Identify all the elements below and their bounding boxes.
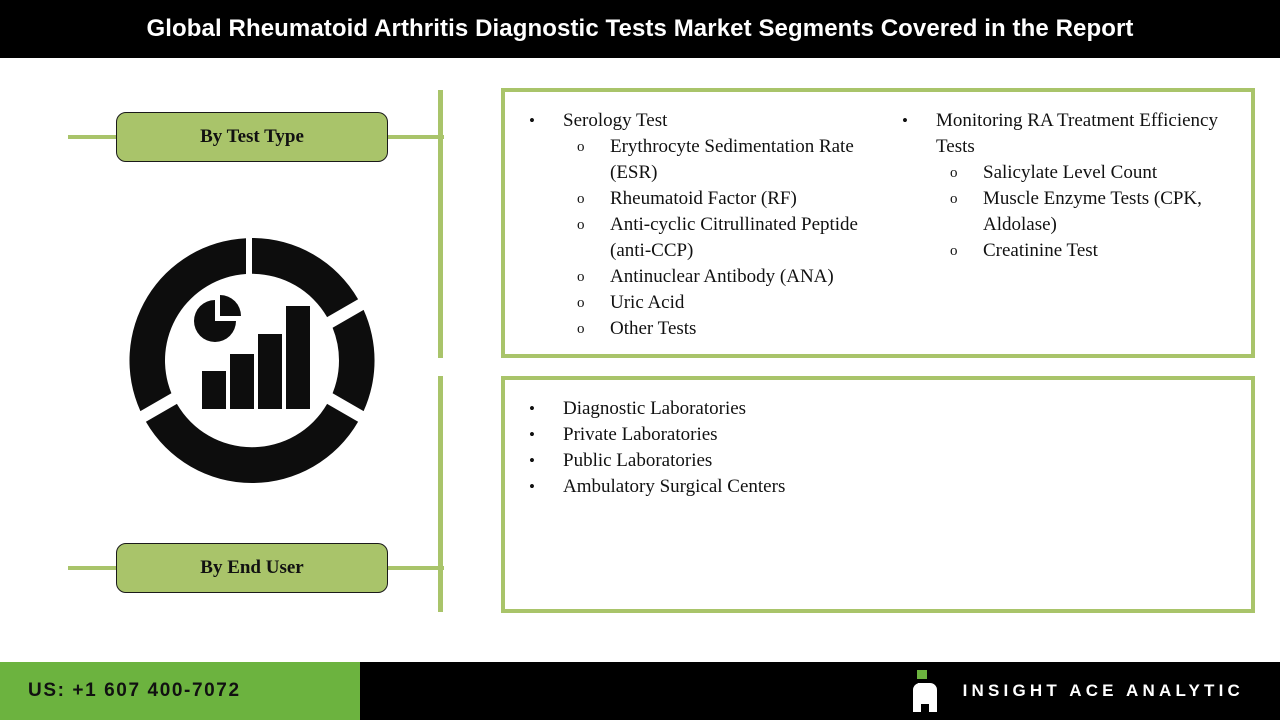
connector-line-right-test-type xyxy=(386,135,444,139)
brand-name-text: INSIGHT ACE ANALYTIC xyxy=(963,681,1244,701)
sub-list-item-label: Rheumatoid Factor (RF) xyxy=(610,188,797,209)
list-item-label: Ambulatory Surgical Centers xyxy=(563,474,1241,500)
sub-list-item: Other Tests xyxy=(563,316,868,342)
brand-logo: INSIGHT ACE ANALYTIC xyxy=(911,670,1244,712)
content-box-end-user: Diagnostic Laboratories Private Laborato… xyxy=(501,376,1255,613)
list-item: Public Laboratories xyxy=(515,448,1241,474)
sub-list-item-label: Salicylate Level Count xyxy=(983,162,1157,183)
sub-list-item-label: Muscle Enzyme Tests (CPK, Aldolase) xyxy=(983,188,1202,235)
sub-list-item: Uric Acid xyxy=(563,290,868,316)
content-column: Monitoring RA Treatment Efficiency Tests… xyxy=(878,92,1251,354)
sub-list-item: Anti-cyclic Citrullinated Peptide (anti-… xyxy=(563,212,868,264)
sub-list-item: Muscle Enzyme Tests (CPK, Aldolase) xyxy=(936,186,1241,238)
sub-list-item-label: Creatinine Test xyxy=(983,240,1098,261)
list-item: Private Laboratories xyxy=(515,422,1241,448)
segment-label-text: By End User xyxy=(200,557,303,579)
connector-line-left-end-user xyxy=(68,566,122,570)
footer-brand-bar: INSIGHT ACE ANALYTIC xyxy=(360,662,1280,720)
content-column: Serology Test Erythrocyte Sedimentation … xyxy=(505,92,878,354)
list-item-label: Private Laboratories xyxy=(563,422,1241,448)
sub-list-item: Creatinine Test xyxy=(936,238,1241,264)
list-item: Serology Test Erythrocyte Sedimentation … xyxy=(515,108,868,342)
list-item-label: Monitoring RA Treatment Efficiency Tests xyxy=(936,108,1241,160)
insightace-logo-icon xyxy=(911,670,941,712)
sub-list-item: Rheumatoid Factor (RF) xyxy=(563,186,868,212)
bracket-line-test-type xyxy=(438,90,443,358)
list-item: Monitoring RA Treatment Efficiency Tests… xyxy=(888,108,1241,264)
list-item-label: Public Laboratories xyxy=(563,448,1241,474)
sub-list-item-label: Erythrocyte Sedimentation Rate (ESR) xyxy=(610,136,854,183)
list-item: Diagnostic Laboratories xyxy=(515,396,1241,422)
sub-list-item: Salicylate Level Count xyxy=(936,160,1241,186)
list-item: Ambulatory Surgical Centers xyxy=(515,474,1241,500)
sub-list-item-label: Anti-cyclic Citrullinated Peptide (anti-… xyxy=(610,214,858,261)
content-box-test-type: Serology Test Erythrocyte Sedimentation … xyxy=(501,88,1255,358)
segment-label-end-user[interactable]: By End User xyxy=(116,543,388,593)
sub-list-item: Erythrocyte Sedimentation Rate (ESR) xyxy=(563,134,868,186)
segment-label-test-type[interactable]: By Test Type xyxy=(116,112,388,162)
list-item-label: Diagnostic Laboratories xyxy=(563,396,1241,422)
segment-label-text: By Test Type xyxy=(200,126,304,148)
sub-list-item: Antinuclear Antibody (ANA) xyxy=(563,264,868,290)
sub-list-item-label: Other Tests xyxy=(610,318,696,339)
footer-phone-number[interactable]: US: +1 607 400-7072 xyxy=(28,680,241,702)
footer-contact-bar: US: +1 607 400-7072 xyxy=(0,662,360,720)
page-title: Global Rheumatoid Arthritis Diagnostic T… xyxy=(146,15,1133,43)
sub-list-item-label: Uric Acid xyxy=(610,292,684,313)
analytics-chart-icon xyxy=(112,228,392,493)
list-item-label: Serology Test xyxy=(563,108,868,134)
header-bar: Global Rheumatoid Arthritis Diagnostic T… xyxy=(0,0,1280,58)
connector-line-left-test-type xyxy=(68,135,122,139)
content-column: Diagnostic Laboratories Private Laborato… xyxy=(505,380,1251,609)
connector-line-right-end-user xyxy=(386,566,444,570)
sub-list-item-label: Antinuclear Antibody (ANA) xyxy=(610,266,834,287)
bracket-line-end-user xyxy=(438,376,443,612)
